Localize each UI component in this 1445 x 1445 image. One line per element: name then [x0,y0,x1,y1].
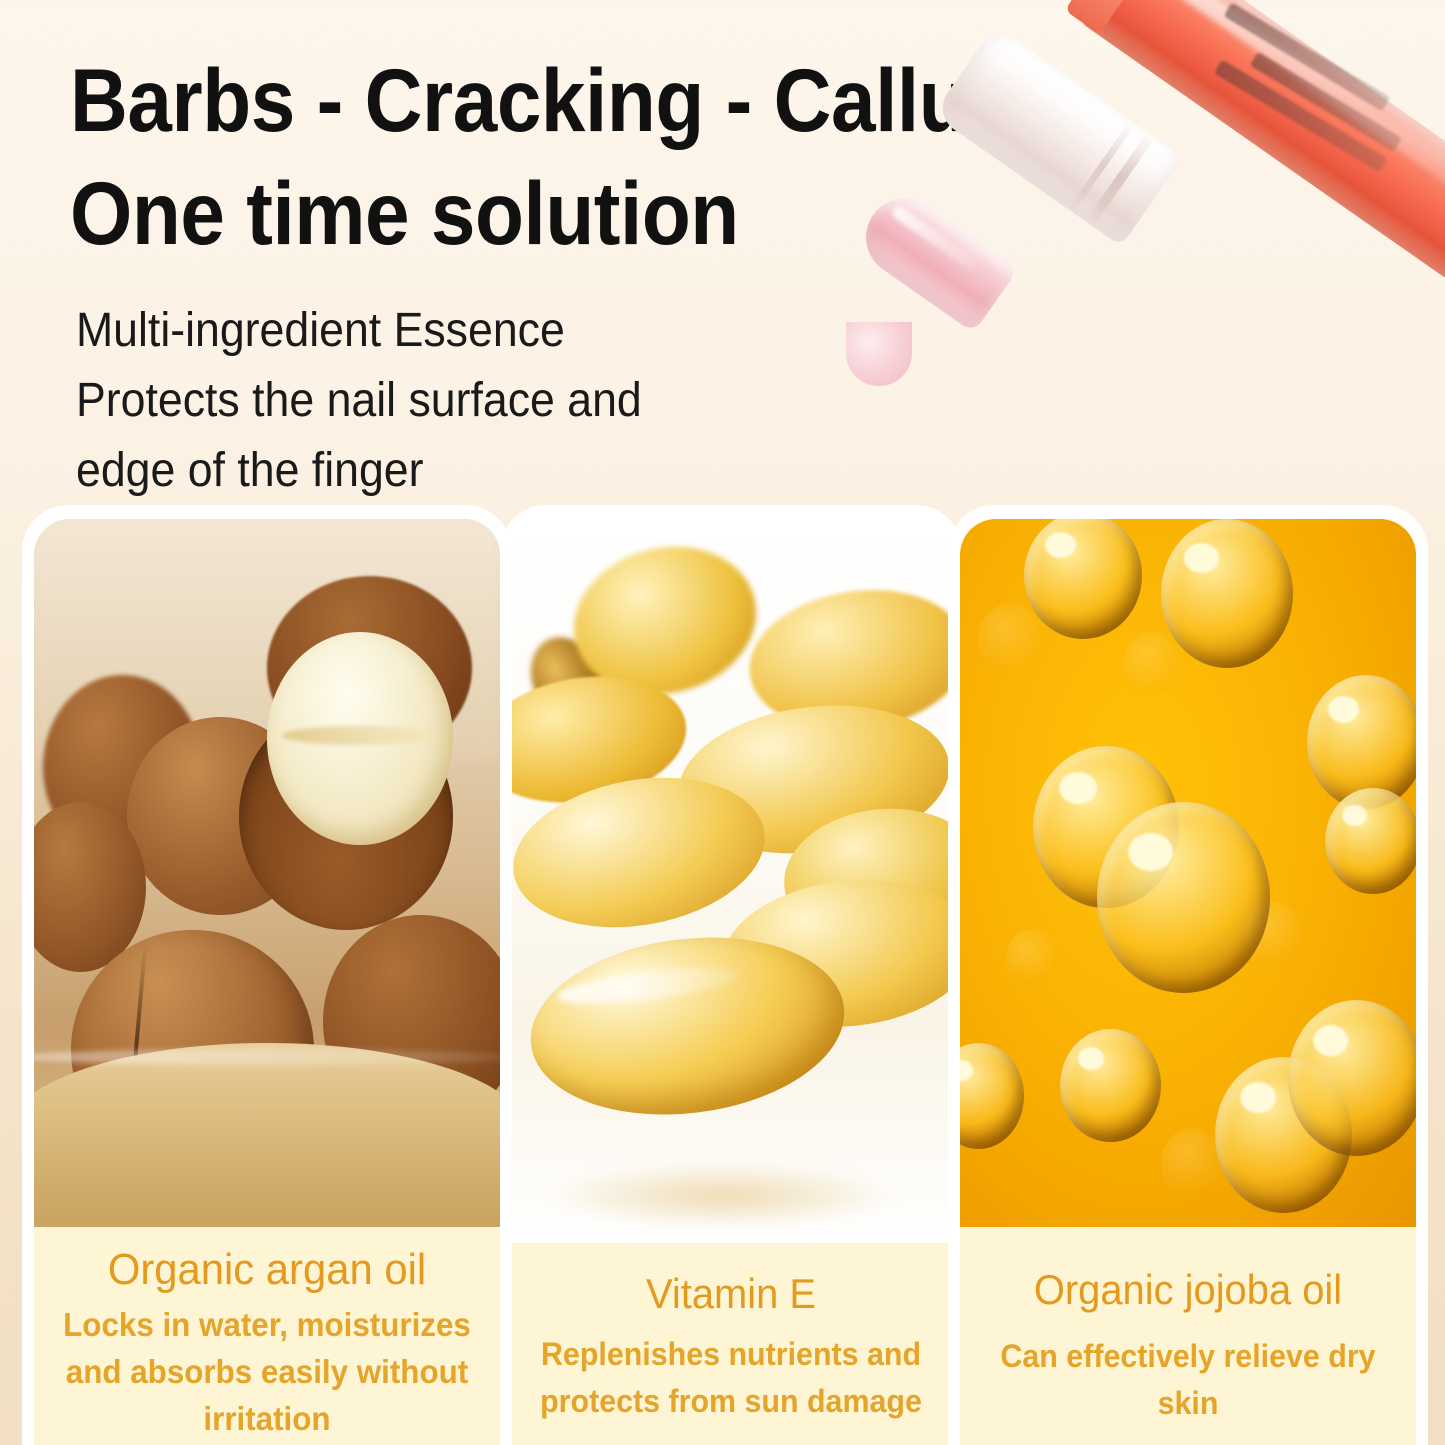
pen-oil-drop [846,322,912,386]
subheading: Multi-ingredient Essence Protects the na… [76,296,783,506]
argan-description: Locks in water, moisturizes and absorbs … [46,1299,489,1442]
pen-label-print [1099,0,1445,257]
ingredient-card-list: Organic argan oil Locks in water, moistu… [0,505,1445,1445]
vitamin-e-title: Vitamin E [523,1251,939,1323]
product-infographic: Barbs - Cracking - Callus One time solut… [0,0,1445,1445]
headline-line-1: Barbs - Cracking - Callus [70,50,1011,150]
subheading-line-1: Multi-ingredient Essence [76,296,783,366]
jojoba-caption: Organic jojoba oil Can effectively relie… [960,1227,1416,1445]
argan-caption: Organic argan oil Locks in water, moistu… [34,1227,500,1445]
jojoba-description: Can effectively relieve dry skin [971,1319,1404,1427]
subheading-line-2: Protects the nail surface and [76,366,783,436]
vitamin-e-photo [512,519,950,1243]
vitamin-e-caption: Vitamin E Replenishes nutrients and prot… [512,1243,950,1445]
jojoba-title: Organic jojoba oil [971,1235,1404,1319]
vitamin-e-description: Replenishes nutrients and protects from … [523,1323,939,1425]
ingredient-card-jojoba: Organic jojoba oil Can effectively relie… [948,505,1428,1445]
jojoba-oil-photo [960,519,1416,1227]
subheading-line-3: edge of the finger [76,436,783,506]
page-title: Barbs - Cracking - Callus One time solut… [70,44,997,270]
argan-oil-photo [34,519,500,1227]
headline-line-2: One time solution [70,157,997,270]
ingredient-card-argan: Organic argan oil Locks in water, moistu… [22,505,512,1445]
ingredient-card-vitamin-e: Vitamin E Replenishes nutrients and prot… [500,505,962,1445]
argan-title: Organic argan oil [46,1235,489,1299]
pen-collar [1065,0,1161,34]
pen-barrel [1074,0,1445,282]
